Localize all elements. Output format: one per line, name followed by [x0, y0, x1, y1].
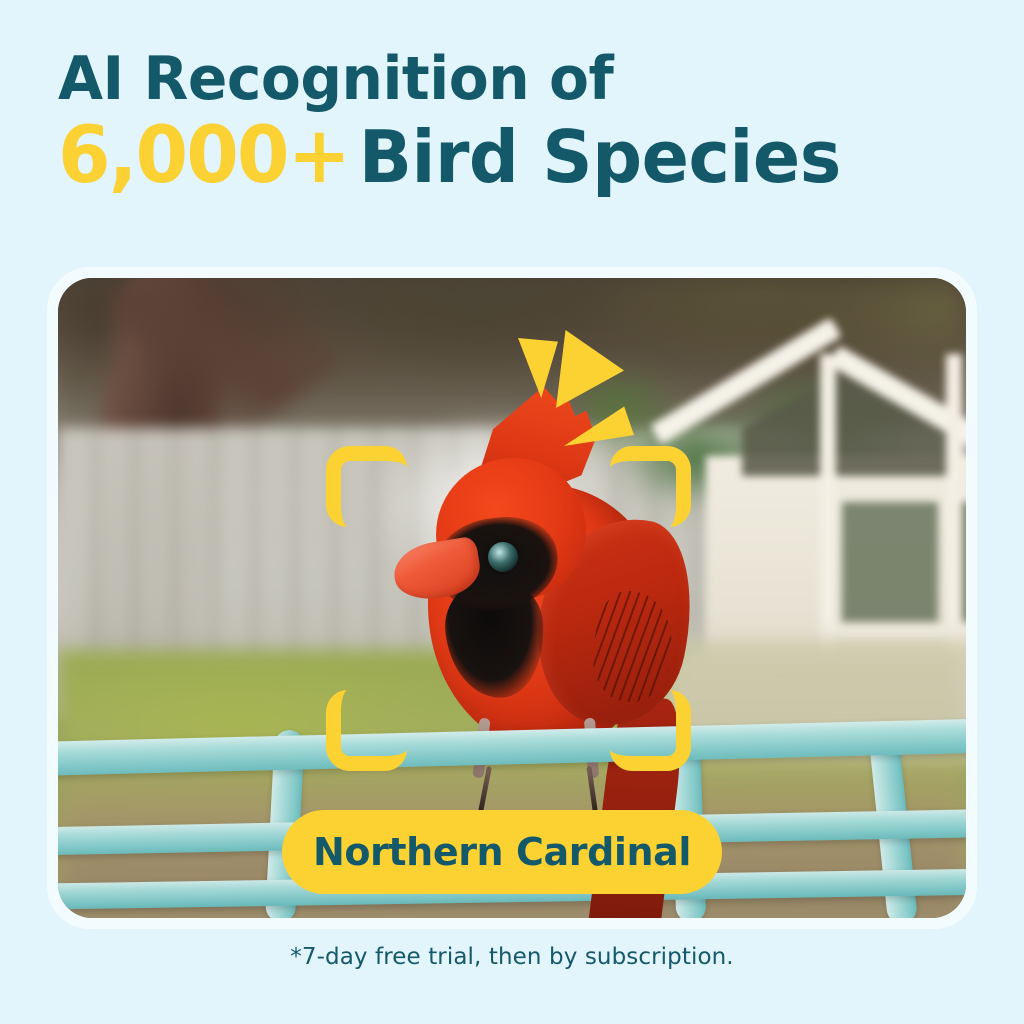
- bird-photo[interactable]: Northern Cardinal: [58, 278, 966, 918]
- species-label-pill[interactable]: Northern Cardinal: [282, 810, 722, 894]
- scan-corner-top-left-icon[interactable]: [326, 446, 407, 527]
- sparkle-burst-icon: [510, 330, 630, 440]
- sparkle-ray: [556, 330, 624, 408]
- species-label-text: Northern Cardinal: [313, 830, 691, 874]
- scan-corner-bottom-left-icon[interactable]: [326, 690, 407, 771]
- scan-corner-bottom-right-icon[interactable]: [610, 690, 691, 771]
- headline-line-1: AI Recognition of: [58, 48, 950, 110]
- sparkle-ray: [518, 338, 558, 398]
- scan-corner-top-right-icon[interactable]: [610, 446, 691, 527]
- sparkle-ray: [564, 404, 634, 446]
- headline-block: AI Recognition of 6,000+Bird Species: [58, 48, 978, 198]
- headline-line-2-rest: Bird Species: [359, 115, 841, 199]
- ar-scan-overlay: Northern Cardinal: [58, 278, 966, 918]
- photo-card[interactable]: Northern Cardinal: [48, 268, 976, 928]
- promo-poster: AI Recognition of 6,000+Bird Species: [0, 0, 1024, 1024]
- species-count-highlight: 6,000+: [58, 111, 349, 201]
- headline-line-2: 6,000+Bird Species: [58, 116, 950, 197]
- footnote-text: *7-day free trial, then by subscription.: [0, 944, 1024, 970]
